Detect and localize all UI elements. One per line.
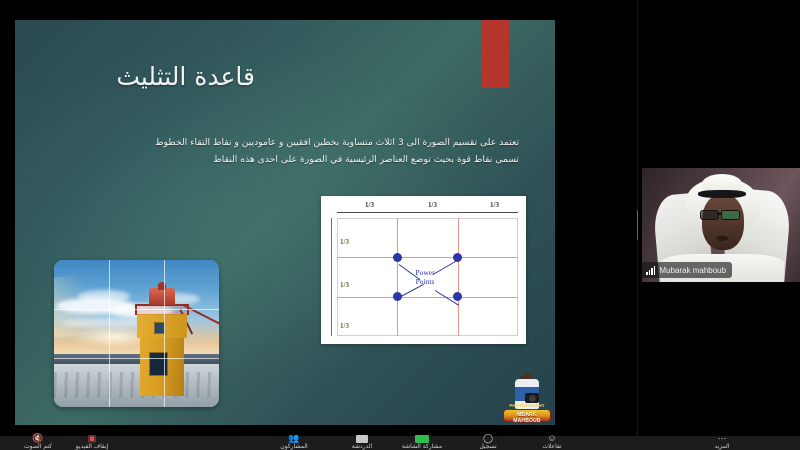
- diagram-horizontal-line: [337, 297, 518, 298]
- toolbar-button-mute[interactable]: 🔇 كتم الصوت: [16, 433, 60, 450]
- power-point-dot: [453, 253, 462, 262]
- photographer-logo: PHOTOGRAPHY MBARK MAHBOUB: [503, 373, 551, 423]
- participant-face: [702, 194, 744, 250]
- diagram-horizontal-line: [337, 257, 518, 258]
- slide-title: قاعدة التثليث: [116, 62, 255, 91]
- lighthouse-railing: [135, 304, 189, 315]
- slide-body-line-2: تسمى نقاط قوة بحيث توضع العناصر الرئيسية…: [51, 151, 519, 168]
- chat-icon: [356, 435, 368, 443]
- signal-bars-icon: [646, 266, 655, 275]
- logo-band-text: MBARK MAHBOUB: [504, 412, 550, 424]
- logo-band: MBARK MAHBOUB: [503, 409, 551, 422]
- reactions-icon: ☺: [547, 433, 556, 443]
- slide-body-text: تعتمد على تقسيم الصورة الى 3 اثلاث متساو…: [51, 134, 519, 168]
- eyeglass-bridge: [717, 213, 721, 215]
- diagram-top-label-3: 1/3: [490, 201, 499, 209]
- microphone-muted-icon: 🔇: [32, 433, 43, 443]
- toolbar-label-reactions: تفاعلات: [542, 443, 561, 450]
- power-point-dot: [393, 292, 402, 301]
- presentation-slide[interactable]: قاعدة التثليث تعتمد على تقسيم الصورة الى…: [15, 20, 555, 425]
- power-point-dot: [393, 253, 402, 262]
- toolbar-label-record: تسجيل: [479, 443, 496, 450]
- toolbar-label-more: المزيد: [714, 443, 729, 450]
- photo-snow-ground: [54, 364, 219, 407]
- toolbar-button-more[interactable]: ⋯ المزيد: [700, 433, 744, 450]
- toolbar-button-reactions[interactable]: ☺ تفاعلات: [530, 433, 574, 450]
- power-points-label-line1: Power: [399, 268, 451, 277]
- toolbar-button-stop-video[interactable]: ▣ إيقاف الفيديو: [70, 433, 114, 450]
- shared-content-stage[interactable]: قاعدة التثليث تعتمد على تقسيم الصورة الى…: [0, 0, 638, 450]
- lighthouse-lamp-room: [149, 288, 175, 305]
- toolbar-label-mute: كتم الصوت: [24, 443, 52, 450]
- participant-video-tile[interactable]: Mubarak mahboub: [642, 168, 800, 282]
- participant-name: Mubarak mahboub: [659, 266, 726, 275]
- participants-icon: 👥: [288, 433, 299, 443]
- toolbar-button-record[interactable]: ◯ تسجيل: [466, 433, 510, 450]
- toolbar-label-participants: المشاركون: [280, 443, 307, 450]
- lighthouse-photo: [54, 260, 219, 407]
- diagram-vertical-line: [458, 218, 459, 336]
- meeting-toolbar[interactable]: 🔇 كتم الصوت ▣ إيقاف الفيديو 👥 المشاركون …: [0, 436, 800, 450]
- camera-icon: [525, 393, 539, 403]
- participant-name-bar: Mubarak mahboub: [642, 262, 732, 278]
- video-camera-icon: ▣: [88, 433, 97, 443]
- eyeglass-left: [700, 210, 719, 220]
- toolbar-button-participants[interactable]: 👥 المشاركون: [272, 433, 316, 450]
- screen-share-window: قاعدة التثليث تعتمد على تقسيم الصورة الى…: [0, 0, 800, 450]
- toolbar-label-chat: الدردشة: [352, 443, 372, 450]
- video-thumbnail-panel: Mubarak mahboub: [638, 0, 800, 450]
- lighthouse-window-small: [154, 322, 165, 334]
- rule-of-thirds-diagram: 1/3 1/3 1/3 1/3 1/3 1/3: [321, 196, 526, 344]
- more-icon: ⋯: [718, 433, 727, 443]
- toolbar-button-chat[interactable]: الدردشة: [340, 435, 384, 450]
- photo-cloud: [78, 290, 130, 303]
- toolbar-button-share-screen[interactable]: مشاركة الشاشة: [400, 435, 444, 450]
- diagram-grid: Power Points: [337, 218, 518, 336]
- toolbar-label-stop-video: إيقاف الفيديو: [76, 443, 109, 450]
- diagram-top-axis: [337, 212, 518, 213]
- slide-accent-block: [481, 20, 509, 88]
- diagram-top-label-2: 1/3: [428, 201, 437, 209]
- share-screen-icon: [415, 435, 429, 443]
- cap-band: [698, 190, 746, 198]
- power-points-label-line2: Points: [399, 277, 451, 286]
- diagram-top-label-1: 1/3: [365, 201, 374, 209]
- lighthouse-cap: [158, 282, 166, 290]
- toolbar-label-share: مشاركة الشاشة: [402, 443, 442, 450]
- diagram-left-axis: [331, 218, 332, 336]
- eyeglass-right: [721, 210, 740, 220]
- record-icon: ◯: [483, 433, 493, 443]
- participant-mouth: [716, 236, 728, 241]
- lighthouse-window-large: [149, 352, 168, 376]
- power-point-dot: [453, 292, 462, 301]
- slide-body-line-1: تعتمد على تقسيم الصورة الى 3 اثلاث متساو…: [51, 134, 519, 151]
